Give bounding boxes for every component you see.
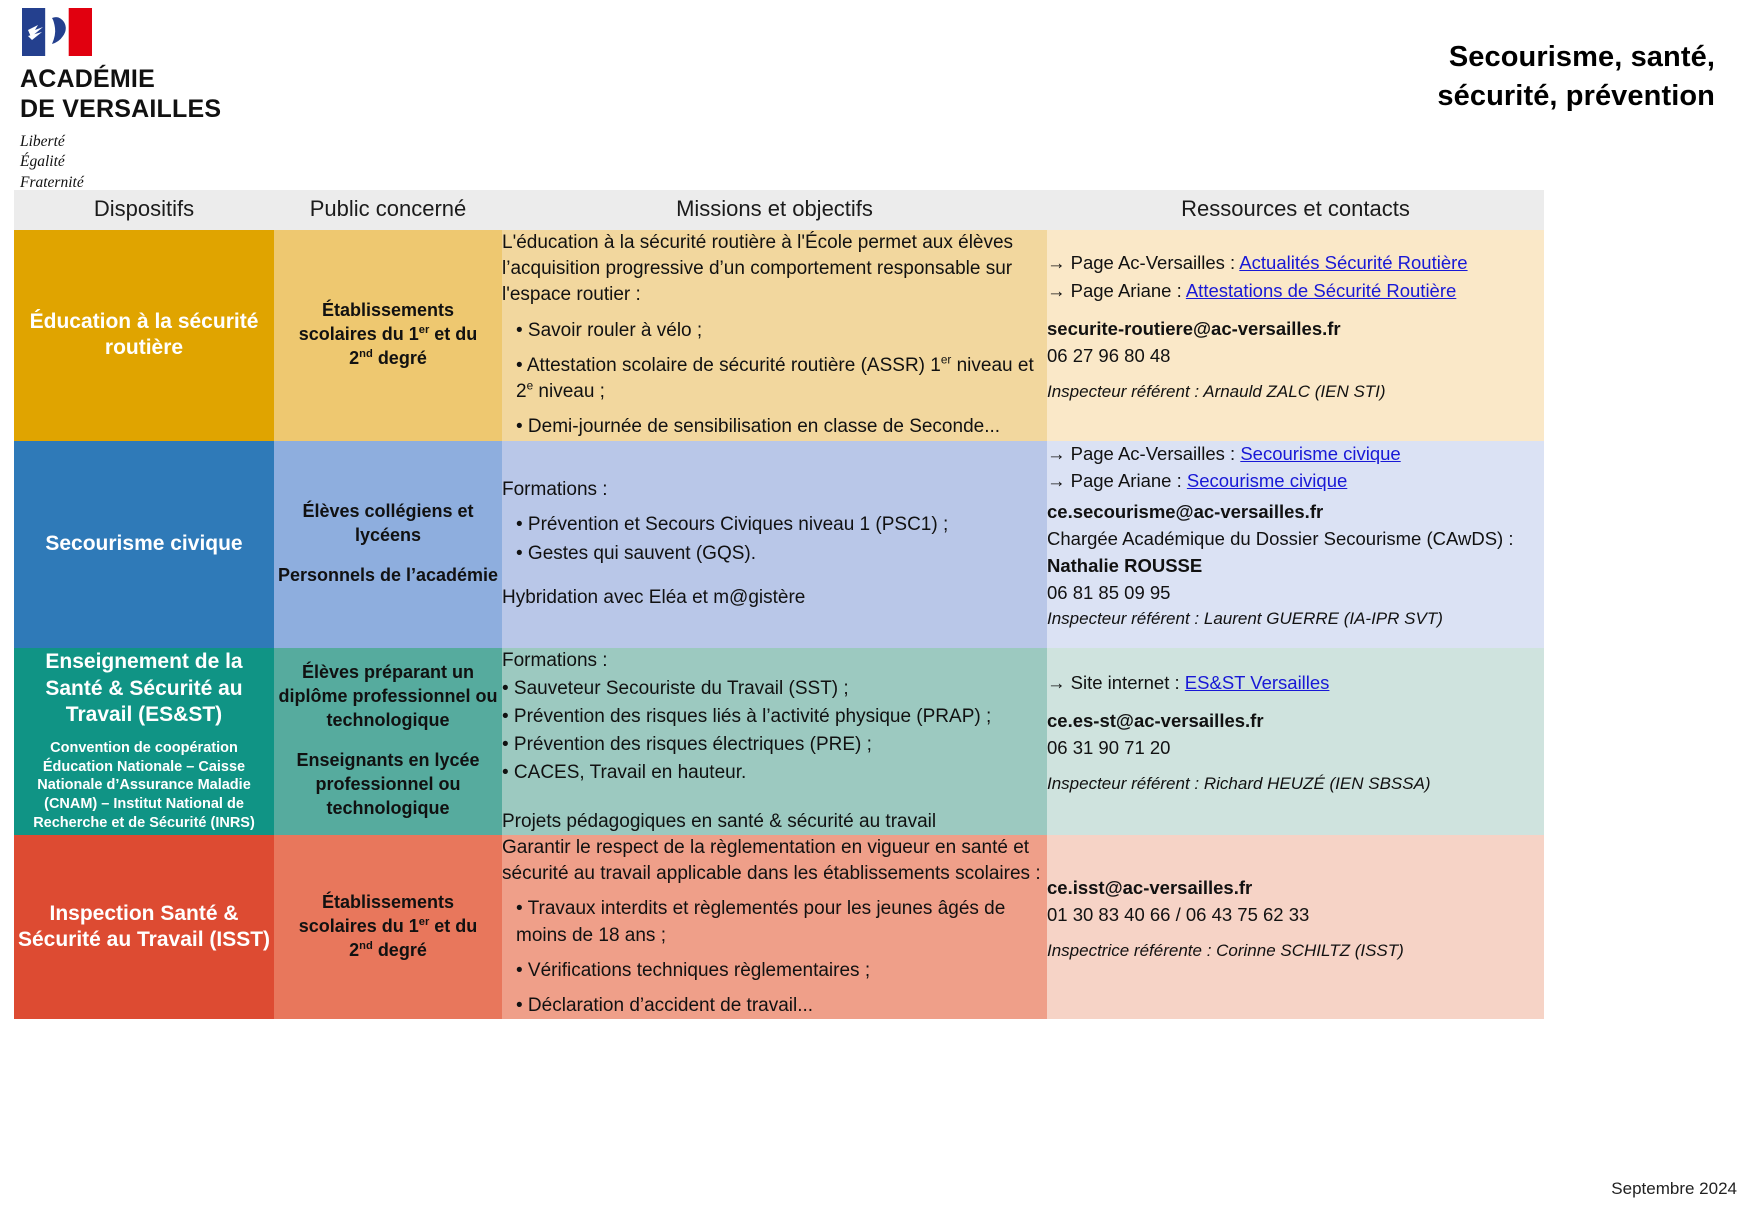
public-item: Enseignants en lycée professionnel ou te…	[274, 749, 502, 821]
ressources-cell: → Site internet : ES&ST Versailles ce.es…	[1047, 648, 1544, 835]
missions-bullet: • Sauveteur Secouriste du Travail (SST) …	[502, 676, 1047, 702]
missions-bullet: • Gestes qui sauvent (GQS).	[502, 541, 1047, 567]
table-header-row: Dispositifs Public concerné Missions et …	[14, 190, 1544, 230]
resource-link-prefix: Page Ac-Versailles :	[1071, 443, 1241, 464]
inspector-reference: Inspectrice référente : Corinne SCHILTZ …	[1047, 939, 1544, 962]
motto-egalite: Égalité	[20, 152, 430, 172]
inspector-reference: Inspecteur référent : Richard HEUZÉ (IEN…	[1047, 772, 1544, 795]
missions-intro: Garantir le respect de la règlementation…	[502, 835, 1047, 887]
column-header-ressources: Ressources et contacts	[1047, 190, 1544, 230]
academy-name-line2: DE VERSAILLES	[20, 95, 430, 125]
public-item: Établissementsscolaires du 1er et du2nd …	[274, 299, 502, 371]
missions-bullet: • Attestation scolaire de sécurité routi…	[502, 353, 1047, 405]
ressources-cell: → Page Ac-Versailles : Actualités Sécuri…	[1047, 230, 1544, 441]
inspector-reference: Inspecteur référent : Laurent GUERRE (IA…	[1047, 607, 1544, 630]
contact-phone: 06 27 96 80 48	[1047, 343, 1544, 368]
page-title-line1: Secourisme, santé,	[1437, 38, 1715, 77]
dispositif-cell: Inspection Santé & Sécurité au Travail (…	[14, 835, 274, 1019]
missions-cell: Garantir le respect de la règlementation…	[502, 835, 1047, 1019]
dispositif-title: Inspection Santé & Sécurité au Travail (…	[18, 902, 270, 951]
table-row: Éducation à la sécurité routière Établis…	[14, 230, 1544, 441]
public-item: Élèves collégiens et lycéens	[274, 500, 502, 548]
column-header-public: Public concerné	[274, 190, 502, 230]
resource-link-line: → Site internet : ES&ST Versailles	[1047, 670, 1544, 695]
link-secourisme-civique-ariane[interactable]: Secourisme civique	[1187, 470, 1347, 491]
contact-email[interactable]: ce.secourisme@ac-versailles.fr	[1047, 499, 1544, 524]
missions-bullet: • Prévention des risques électriques (PR…	[502, 732, 1047, 758]
public-cell: Élèves préparant un diplôme professionne…	[274, 648, 502, 835]
missions-bullet: • Vérifications techniques règlementaire…	[502, 958, 1047, 984]
footer-date: Septembre 2024	[1611, 1179, 1737, 1199]
inspector-reference: Inspecteur référent : Arnauld ZALC (IEN …	[1047, 380, 1544, 403]
missions-bullet: • Déclaration d’accident de travail...	[502, 993, 1047, 1019]
missions-bullet: • Demi-journée de sensibilisation en cla…	[502, 414, 1047, 440]
academy-name: ACADÉMIE DE VERSAILLES	[20, 65, 430, 124]
contact-name: Nathalie ROUSSE	[1047, 553, 1544, 578]
missions-intro: L'éducation à la sécurité routière à l'É…	[502, 230, 1047, 309]
link-actualites-securite-routiere[interactable]: Actualités Sécurité Routière	[1239, 252, 1467, 273]
table-row: Enseignement de la Santé & Sécurité au T…	[14, 648, 1544, 835]
dispositif-title: Enseignement de la Santé & Sécurité au T…	[45, 650, 242, 726]
resource-link-line: → Page Ac-Versailles : Secourisme civiqu…	[1047, 441, 1544, 466]
resource-link-line: → Page Ac-Versailles : Actualités Sécuri…	[1047, 250, 1544, 275]
dispositif-cell: Secourisme civique	[14, 441, 274, 648]
contact-role: Chargée Académique du Dossier Secourisme…	[1047, 526, 1544, 551]
public-cell: Établissementsscolaires du 1er et du2nd …	[274, 230, 502, 441]
column-header-missions: Missions et objectifs	[502, 190, 1047, 230]
motto-liberte: Liberté	[20, 132, 430, 152]
resource-link-prefix: Page Ac-Versailles :	[1071, 252, 1240, 273]
arrow-icon: →	[1047, 470, 1066, 491]
resource-link-line: → Page Ariane : Attestations de Sécurité…	[1047, 278, 1544, 303]
resource-link-prefix: Page Ariane :	[1071, 470, 1187, 491]
public-item: Établissementsscolaires du 1er et du2nd …	[274, 891, 502, 963]
academy-brand-block: ACADÉMIE DE VERSAILLES Liberté Égalité F…	[10, 8, 430, 193]
resource-link-prefix: Page Ariane :	[1071, 280, 1186, 301]
missions-intro: Formations :	[502, 477, 1047, 503]
dispositif-cell: Enseignement de la Santé & Sécurité au T…	[14, 648, 274, 835]
arrow-icon: →	[1047, 443, 1066, 464]
missions-cell: L'éducation à la sécurité routière à l'É…	[502, 230, 1047, 441]
missions-outro: Projets pédagogiques en santé & sécurité…	[502, 809, 1047, 835]
contact-phone: 06 31 90 71 20	[1047, 735, 1544, 760]
link-secourisme-civique-ac[interactable]: Secourisme civique	[1240, 443, 1400, 464]
public-cell: Établissementsscolaires du 1er et du2nd …	[274, 835, 502, 1019]
dispositif-title: Éducation à la sécurité routière	[30, 310, 259, 359]
dispositifs-table: Dispositifs Public concerné Missions et …	[14, 190, 1544, 1019]
contact-phone: 01 30 83 40 66 / 06 43 75 62 33	[1047, 902, 1544, 927]
arrow-icon: →	[1047, 280, 1066, 301]
page-header: ACADÉMIE DE VERSAILLES Liberté Égalité F…	[0, 0, 1759, 180]
dispositif-title: Secourisme civique	[45, 532, 242, 555]
link-attestations-securite-routiere[interactable]: Attestations de Sécurité Routière	[1186, 280, 1456, 301]
public-item: Élèves préparant un diplôme professionne…	[274, 661, 502, 733]
dispositif-cell: Éducation à la sécurité routière	[14, 230, 274, 441]
missions-intro: Formations :	[502, 648, 1047, 674]
page-title: Secourisme, santé, sécurité, prévention	[1437, 38, 1715, 117]
page-title-line2: sécurité, prévention	[1437, 77, 1715, 116]
public-cell: Élèves collégiens et lycéens Personnels …	[274, 441, 502, 648]
contact-email[interactable]: securite-routiere@ac-versailles.fr	[1047, 316, 1544, 341]
missions-cell: Formations : • Prévention et Secours Civ…	[502, 441, 1047, 648]
missions-outro: Hybridation avec Eléa et m@gistère	[502, 585, 1047, 611]
public-item: Personnels de l’académie	[274, 564, 502, 588]
contact-email[interactable]: ce.es-st@ac-versailles.fr	[1047, 708, 1544, 733]
contact-email[interactable]: ce.isst@ac-versailles.fr	[1047, 875, 1544, 900]
republic-motto: Liberté Égalité Fraternité	[20, 132, 430, 193]
resource-link-prefix: Site internet :	[1071, 672, 1185, 693]
french-flag-marianne-icon	[22, 8, 92, 56]
table-row: Secourisme civique Élèves collégiens et …	[14, 441, 1544, 648]
missions-bullet: • Prévention des risques liés à l’activi…	[502, 704, 1047, 730]
contact-phone: 06 81 85 09 95	[1047, 580, 1544, 605]
table-row: Inspection Santé & Sécurité au Travail (…	[14, 835, 1544, 1019]
missions-bullet: • Savoir rouler à vélo ;	[502, 318, 1047, 344]
resource-link-line: → Page Ariane : Secourisme civique	[1047, 468, 1544, 493]
missions-bullet: • Prévention et Secours Civiques niveau …	[502, 512, 1047, 538]
arrow-icon: →	[1047, 252, 1066, 273]
table-body: Éducation à la sécurité routière Établis…	[14, 230, 1544, 1019]
missions-bullet: • CACES, Travail en hauteur.	[502, 760, 1047, 786]
ressources-cell: → Page Ac-Versailles : Secourisme civiqu…	[1047, 441, 1544, 648]
ressources-cell: ce.isst@ac-versailles.fr 01 30 83 40 66 …	[1047, 835, 1544, 1019]
missions-bullet: • Travaux interdits et règlementés pour …	[502, 896, 1047, 948]
column-header-dispositifs: Dispositifs	[14, 190, 274, 230]
link-esst-versailles[interactable]: ES&ST Versailles	[1185, 672, 1330, 693]
dispositif-subtitle: Convention de coopération Éducation Nati…	[14, 739, 274, 833]
arrow-icon: →	[1047, 672, 1066, 693]
academy-name-line1: ACADÉMIE	[20, 65, 430, 95]
missions-cell: Formations : • Sauveteur Secouriste du T…	[502, 648, 1047, 835]
